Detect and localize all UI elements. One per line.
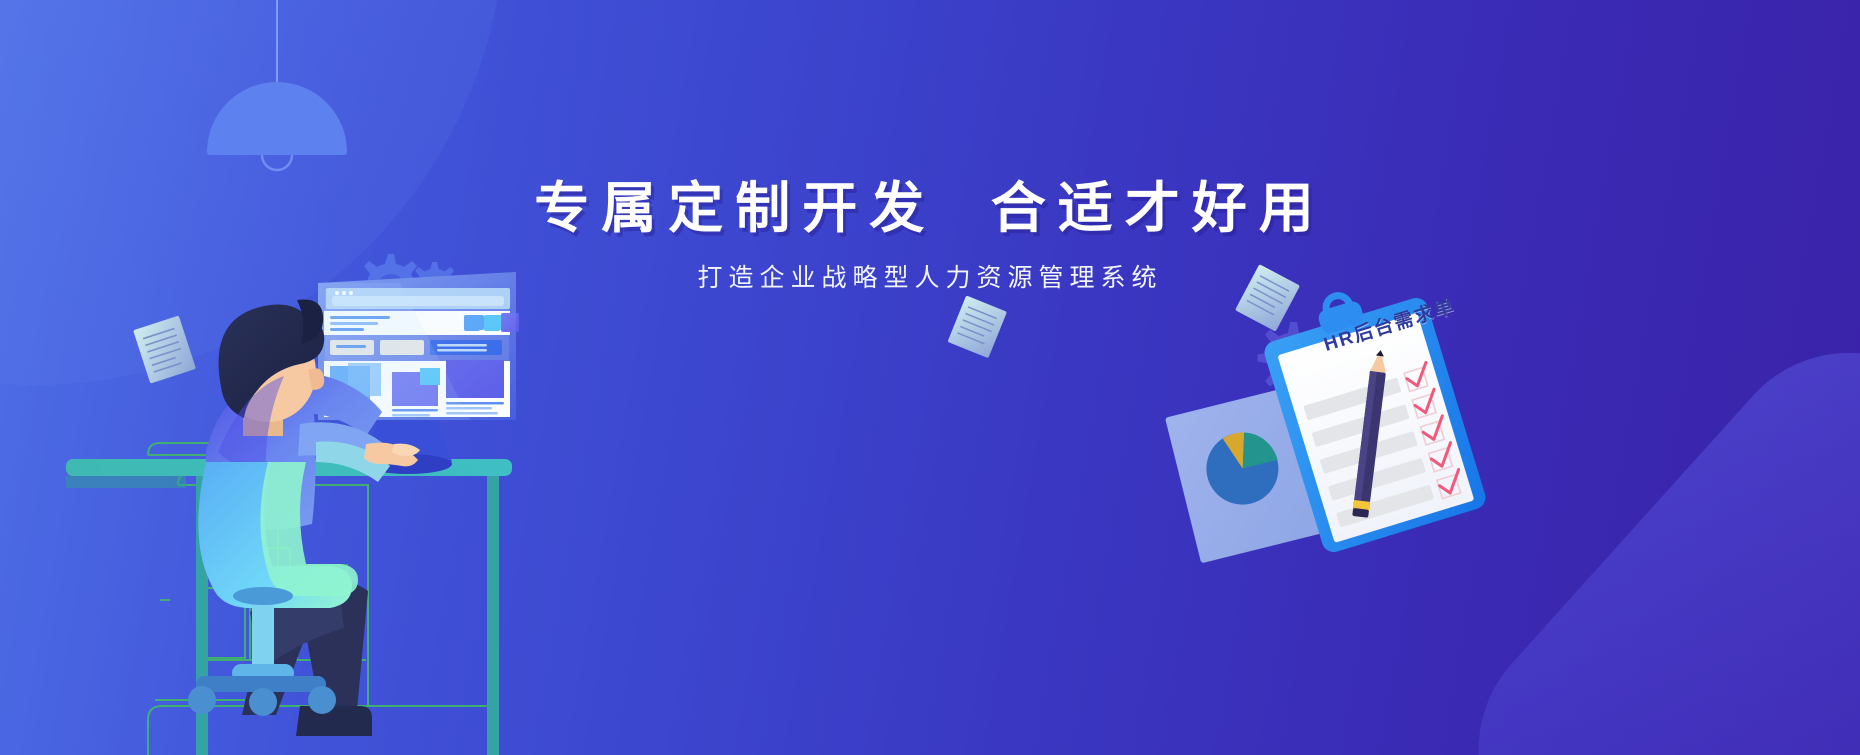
illustration-layer [0, 0, 1860, 755]
hero-banner: 专属定制开发 合适才好用 打造企业战略型人力资源管理系统 [0, 0, 1860, 755]
